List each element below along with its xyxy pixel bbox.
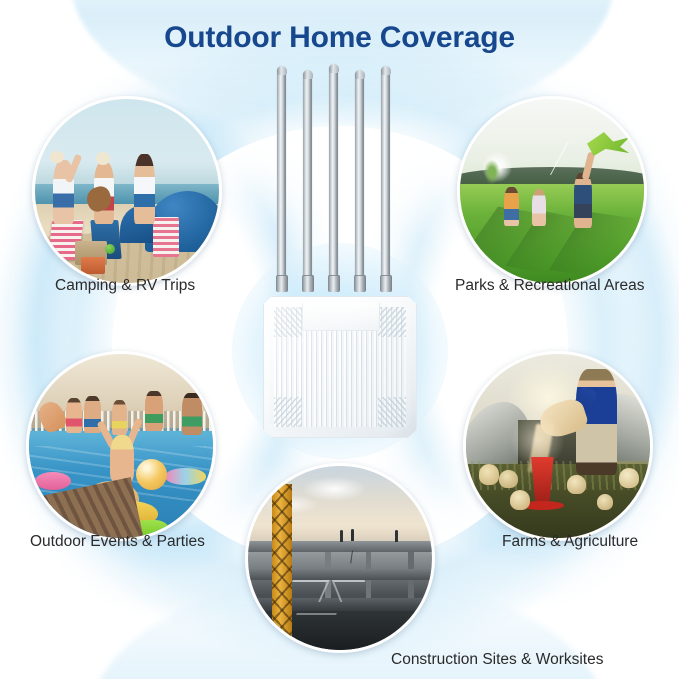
- antenna-1: [277, 66, 286, 279]
- use-case-label-construction: Construction Sites & Worksites: [391, 651, 603, 669]
- use-case-photo-camping: [32, 96, 222, 286]
- use-case-photo-construction: [245, 463, 435, 653]
- use-case-photo-farms: [463, 351, 653, 541]
- construction-site-photo: [248, 466, 432, 650]
- antenna-4: [355, 70, 364, 279]
- use-case-photo-parks: [457, 96, 647, 286]
- router-corner-fin-bottom-left: [274, 397, 302, 427]
- antenna-2: [303, 70, 312, 279]
- beach-camping-photo: [35, 99, 219, 283]
- router-corner-fin-top-right: [378, 307, 406, 337]
- use-case-label-parks: Parks & Recreational Areas: [455, 277, 645, 295]
- pool-party-photo: [29, 354, 213, 538]
- park-kite-photo: [460, 99, 644, 283]
- use-case-label-camping: Camping & RV Trips: [55, 277, 195, 295]
- router-device: [255, 60, 425, 440]
- infographic-canvas: Outdoor Home Coverage: [0, 0, 679, 679]
- antenna-5: [381, 66, 390, 279]
- router-corner-fin-bottom-right: [378, 397, 406, 427]
- use-case-label-farms: Farms & Agriculture: [502, 533, 638, 551]
- router-corner-fin-top-left: [274, 307, 302, 337]
- use-case-label-events: Outdoor Events & Parties: [30, 533, 205, 551]
- page-title: Outdoor Home Coverage: [0, 21, 679, 55]
- router-top-panel: [302, 303, 380, 331]
- antenna-3: [329, 64, 338, 279]
- router-body: [263, 296, 417, 438]
- use-case-photo-events: [26, 351, 216, 541]
- farm-chickens-photo: [466, 354, 650, 538]
